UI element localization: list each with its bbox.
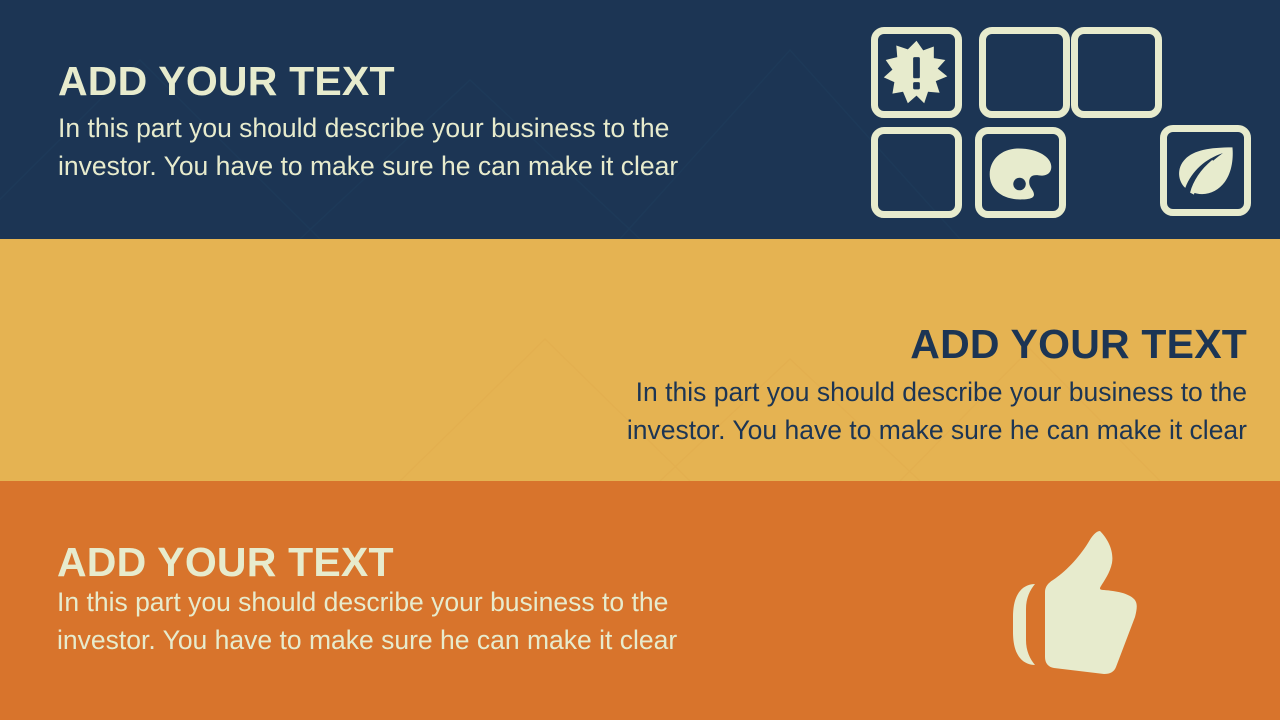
- icon-tile-paint-palette[interactable]: [975, 127, 1066, 218]
- icon-tile-empty-1[interactable]: [979, 27, 1070, 118]
- middle-heading: ADD YOUR TEXT: [627, 322, 1247, 366]
- slide-canvas: ADD YOUR TEXT In this part you should de…: [0, 0, 1280, 720]
- paint-palette-icon: [982, 134, 1059, 211]
- thumbs-up-icon: [1004, 529, 1140, 675]
- icon-tile-leaf[interactable]: [1160, 125, 1251, 216]
- leaf-icon: [1167, 132, 1244, 209]
- middle-body: In this part you should describe your bu…: [627, 374, 1247, 450]
- middle-text-block: ADD YOUR TEXT In this part you should de…: [627, 322, 1247, 450]
- bottom-body: In this part you should describe your bu…: [57, 584, 677, 660]
- burst-alert-icon: [878, 34, 955, 111]
- thumbs-up-graphic: [1004, 529, 1140, 675]
- section-top: ADD YOUR TEXT In this part you should de…: [0, 0, 1280, 239]
- bottom-body-line-2: investor. You have to make sure he can m…: [57, 622, 677, 660]
- bottom-body-line-1: In this part you should describe your bu…: [57, 584, 677, 622]
- icon-grid: [871, 27, 1261, 227]
- bottom-text-block: ADD YOUR TEXT In this part you should de…: [57, 540, 677, 660]
- section-bottom: ADD YOUR TEXT In this part you should de…: [0, 481, 1280, 720]
- icon-tile-empty-3[interactable]: [871, 127, 962, 218]
- middle-body-line-2: investor. You have to make sure he can m…: [627, 412, 1247, 450]
- icon-tile-burst-alert[interactable]: [871, 27, 962, 118]
- icon-tile-empty-2[interactable]: [1071, 27, 1162, 118]
- bottom-heading: ADD YOUR TEXT: [57, 540, 677, 584]
- middle-body-line-1: In this part you should describe your bu…: [627, 374, 1247, 412]
- top-body-line-2: investor. You have to make sure he can m…: [58, 148, 678, 186]
- top-text-block: ADD YOUR TEXT In this part you should de…: [58, 59, 678, 186]
- top-body: In this part you should describe your bu…: [58, 110, 678, 186]
- top-heading: ADD YOUR TEXT: [58, 59, 678, 103]
- section-middle: ADD YOUR TEXT In this part you should de…: [0, 239, 1280, 481]
- top-body-line-1: In this part you should describe your bu…: [58, 110, 678, 148]
